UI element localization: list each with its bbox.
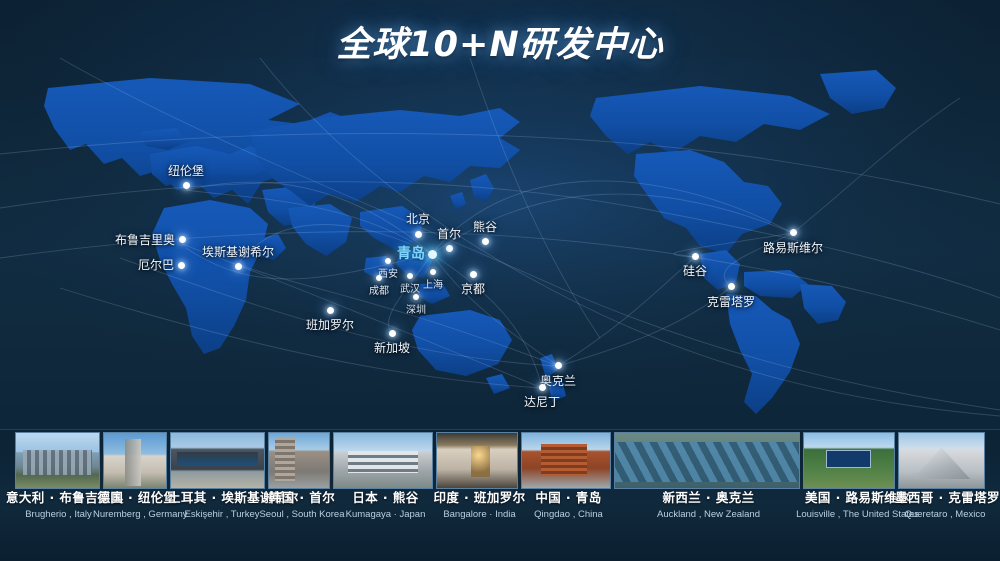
city-dot-icon — [446, 245, 453, 252]
caption-english: Qingdao , China — [526, 508, 611, 521]
city-label: 京都 — [461, 283, 485, 295]
city-dot-icon — [470, 271, 477, 278]
city-label: 克雷塔罗 — [707, 296, 755, 308]
city-label: 青岛 — [397, 247, 425, 261]
caption-chinese: 韩国 · 首尔 — [258, 490, 346, 505]
caption-chinese: 墨西哥 · 克雷塔罗 — [895, 490, 995, 505]
gallery-thumbnail[interactable] — [15, 432, 100, 489]
caption-english: Seoul , South Korea — [258, 508, 346, 521]
city-dot-icon — [327, 307, 334, 314]
city-label: 成都 — [369, 287, 389, 297]
city-dot-icon — [482, 238, 489, 245]
city-label: 硅谷 — [683, 265, 707, 277]
city-dot-icon — [428, 250, 437, 259]
facility-photo — [522, 433, 610, 488]
gallery-caption: 日本 · 熊谷Kumagaya · Japan — [343, 490, 428, 521]
facility-photo — [171, 433, 264, 488]
gallery-caption: 韩国 · 首尔Seoul , South Korea — [258, 490, 346, 521]
city-label: 上海 — [423, 281, 443, 291]
caption-chinese: 新西兰 · 奥克兰 — [646, 490, 771, 505]
city-dot-icon — [178, 262, 185, 269]
city-label: 深圳 — [406, 306, 426, 316]
facility-photo — [16, 433, 99, 488]
city-label: 首尔 — [437, 228, 461, 240]
city-label: 埃斯基谢希尔 — [202, 246, 274, 258]
title-bar: 全球10+N研发中心 — [0, 16, 1000, 64]
city-dot-icon — [728, 283, 735, 290]
city-dot-icon — [235, 263, 242, 270]
facility-photo — [269, 433, 329, 488]
gallery-caption: 印度 · 班加罗尔Bangalore · India — [432, 490, 527, 521]
city-label: 班加罗尔 — [306, 319, 354, 331]
city-label: 路易斯维尔 — [763, 242, 823, 254]
caption-chinese: 日本 · 熊谷 — [343, 490, 428, 505]
gallery-thumbnail[interactable] — [436, 432, 518, 489]
city-label: 北京 — [406, 213, 430, 225]
slide-root: 全球10+N研发中心 — [0, 0, 1000, 561]
gallery-thumbnail[interactable] — [103, 432, 167, 489]
caption-english: Bangalore · India — [432, 508, 527, 521]
city-label: 武汉 — [400, 285, 420, 295]
city-dot-icon — [179, 236, 186, 243]
city-dot-icon — [389, 330, 396, 337]
facility-photo — [804, 433, 894, 488]
city-dot-icon — [407, 273, 413, 279]
facility-photo — [104, 433, 166, 488]
gallery-thumbnail[interactable] — [268, 432, 330, 489]
caption-chinese: 印度 · 班加罗尔 — [432, 490, 527, 505]
city-dot-icon — [692, 253, 699, 260]
city-dot-icon — [555, 362, 562, 369]
city-dot-icon — [376, 275, 382, 281]
facility-photo — [334, 433, 432, 488]
caption-english: Auckland , New Zealand — [646, 508, 771, 521]
gallery-thumbnail[interactable] — [333, 432, 433, 489]
city-label: 布鲁吉里奥 — [115, 234, 175, 246]
city-label: 厄尔巴 — [138, 259, 174, 271]
caption-english: Kumagaya · Japan — [343, 508, 428, 521]
caption-english: Queretaro , Mexico — [895, 508, 995, 521]
gallery-caption: 新西兰 · 奥克兰Auckland , New Zealand — [646, 490, 771, 521]
caption-row: 意大利 · 布鲁吉里奥Brugherio , Italy德国 · 纽伦堡Nure… — [0, 490, 1000, 546]
city-label: 纽伦堡 — [168, 165, 204, 177]
gallery-thumbnail[interactable] — [803, 432, 895, 489]
city-label: 新加坡 — [374, 342, 410, 354]
city-dot-icon — [183, 182, 190, 189]
gallery-caption: 墨西哥 · 克雷塔罗Queretaro , Mexico — [895, 490, 995, 521]
thumbnail-row — [0, 432, 1000, 489]
city-dot-icon — [415, 231, 422, 238]
gallery-caption: 中国 · 青岛Qingdao , China — [526, 490, 611, 521]
city-label: 达尼丁 — [524, 396, 560, 408]
gallery-thumbnail[interactable] — [521, 432, 611, 489]
facility-photo — [437, 433, 517, 488]
gallery-thumbnail[interactable] — [614, 432, 800, 489]
world-map: 纽伦堡布鲁吉里奥厄尔巴埃斯基谢希尔北京首尔熊谷青岛京都西安成都武汉上海深圳班加罗… — [0, 58, 1000, 418]
site-gallery-strip: 意大利 · 布鲁吉里奥Brugherio , Italy德国 · 纽伦堡Nure… — [0, 429, 1000, 561]
city-dot-icon — [790, 229, 797, 236]
city-dot-icon — [539, 384, 546, 391]
caption-chinese: 中国 · 青岛 — [526, 490, 611, 505]
facility-photo — [899, 433, 984, 488]
facility-photo — [615, 433, 799, 488]
gallery-thumbnail[interactable] — [898, 432, 985, 489]
gallery-thumbnail[interactable] — [170, 432, 265, 489]
city-label: 熊谷 — [473, 221, 497, 233]
